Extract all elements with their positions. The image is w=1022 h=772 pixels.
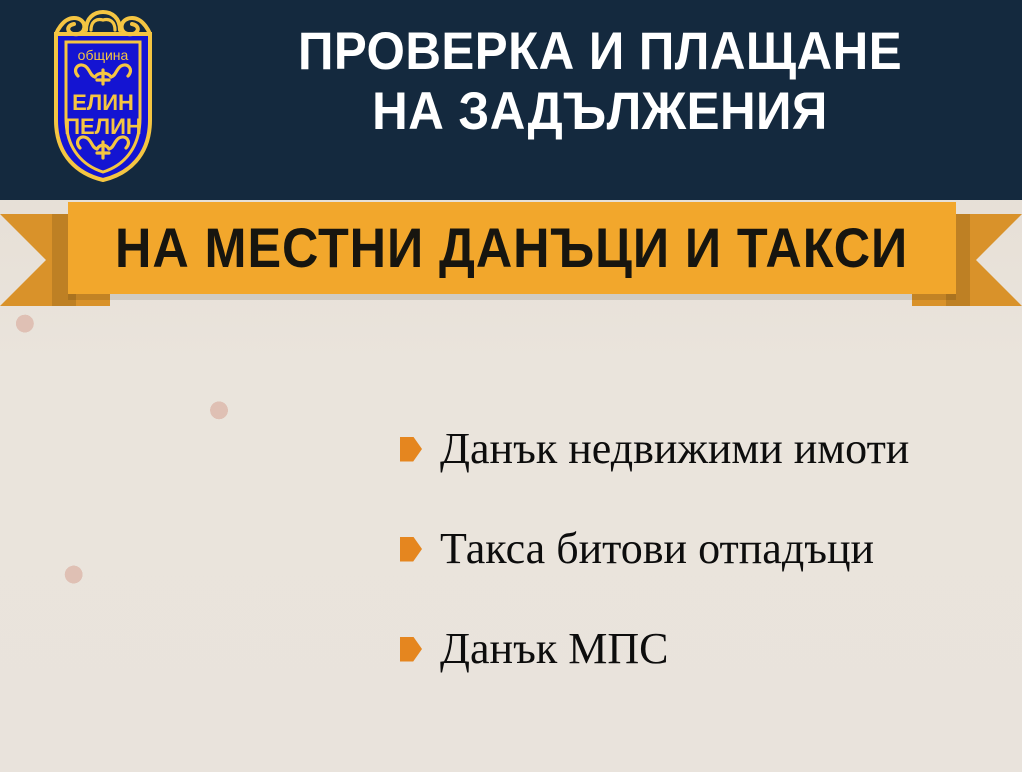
house-icon	[54, 345, 190, 472]
tax-type-list: Данък недвижими имоти Такса битови отпад…	[400, 418, 1010, 718]
header-banner: община ЕЛИН ПЕЛИН ПРОВЕРКА И ПЛАЩАНЕ НА …	[0, 0, 1022, 200]
arrow-bullet-icon	[400, 637, 422, 662]
logo-top-label: община	[78, 47, 129, 63]
subtitle-ribbon: НА МЕСТНИ ДАНЪЦИ И ТАКСИ	[0, 200, 1022, 310]
stamp-card-property	[15, 301, 228, 514]
list-item[interactable]: Данък МПС	[400, 618, 1010, 680]
page-title-line-2: НА ЗАДЪЛЖЕНИЯ	[219, 82, 982, 142]
logo-name-line1: ЕЛИН	[72, 90, 134, 115]
page-title-line-1: ПРОВЕРКА И ПЛАЩАНЕ	[219, 22, 982, 82]
arrow-bullet-icon	[400, 437, 422, 462]
arrow-bullet-icon	[400, 537, 422, 562]
list-item-label: Данък недвижими имоти	[440, 424, 909, 474]
coat-of-arms-icon: община ЕЛИН ПЕЛИН	[28, 8, 178, 190]
car-front-icon	[115, 561, 269, 704]
list-item[interactable]: Такса битови отпадъци	[400, 518, 1010, 580]
logo-name-line2: ПЕЛИН	[64, 114, 142, 139]
list-item[interactable]: Данък недвижими имоти	[400, 418, 1010, 480]
stamp-paper	[41, 327, 203, 489]
poster-canvas: община ЕЛИН ПЕЛИН ПРОВЕРКА И ПЛАЩАНЕ НА …	[0, 0, 1022, 772]
municipality-logo: община ЕЛИН ПЕЛИН	[28, 8, 178, 190]
list-item-label: Данък МПС	[440, 624, 668, 674]
stamp-card-group	[0, 300, 420, 772]
list-item-label: Такса битови отпадъци	[440, 524, 874, 574]
ribbon-body: НА МЕСТНИ ДАНЪЦИ И ТАКСИ	[68, 202, 956, 294]
ribbon-label: НА МЕСТНИ ДАНЪЦИ И ТАКСИ	[115, 219, 908, 277]
page-title: ПРОВЕРКА И ПЛАЩАНЕ НА ЗАДЪЛЖЕНИЯ	[190, 22, 1010, 142]
